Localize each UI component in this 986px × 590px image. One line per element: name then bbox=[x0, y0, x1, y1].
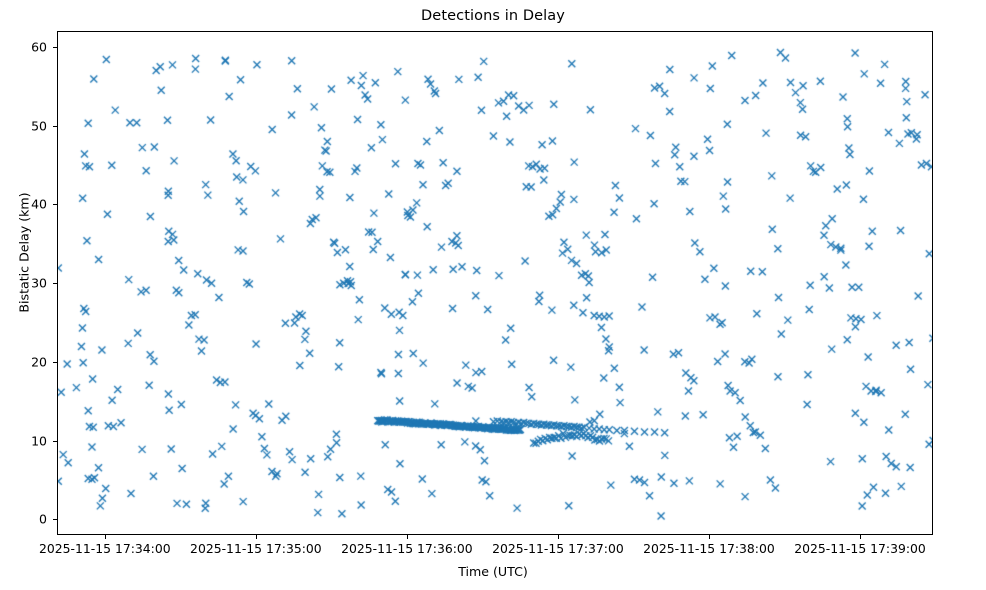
x-tick-mark bbox=[407, 535, 408, 539]
x-tick-label: 2025-11-15 17:34:00 bbox=[39, 541, 171, 556]
matplotlib-figure: Detections in Delay 0102030405060 2025-1… bbox=[0, 0, 986, 590]
x-tick-label: 2025-11-15 17:36:00 bbox=[341, 541, 473, 556]
y-axis-label: Bistatic Delay (km) bbox=[17, 123, 32, 383]
x-tick-mark bbox=[105, 535, 106, 539]
x-tick-label: 2025-11-15 17:37:00 bbox=[492, 541, 624, 556]
x-tick-mark bbox=[558, 535, 559, 539]
x-tick-label: 2025-11-15 17:38:00 bbox=[643, 541, 775, 556]
x-tick-label: 2025-11-15 17:35:00 bbox=[190, 541, 322, 556]
x-axis-label: Time (UTC) bbox=[0, 564, 986, 579]
x-tick-mark bbox=[256, 535, 257, 539]
x-tick-label: 2025-11-15 17:39:00 bbox=[794, 541, 926, 556]
x-tick-mark bbox=[709, 535, 710, 539]
x-tick-mark bbox=[860, 535, 861, 539]
x-axis-ticks: 2025-11-15 17:34:002025-11-15 17:35:0020… bbox=[0, 0, 986, 590]
